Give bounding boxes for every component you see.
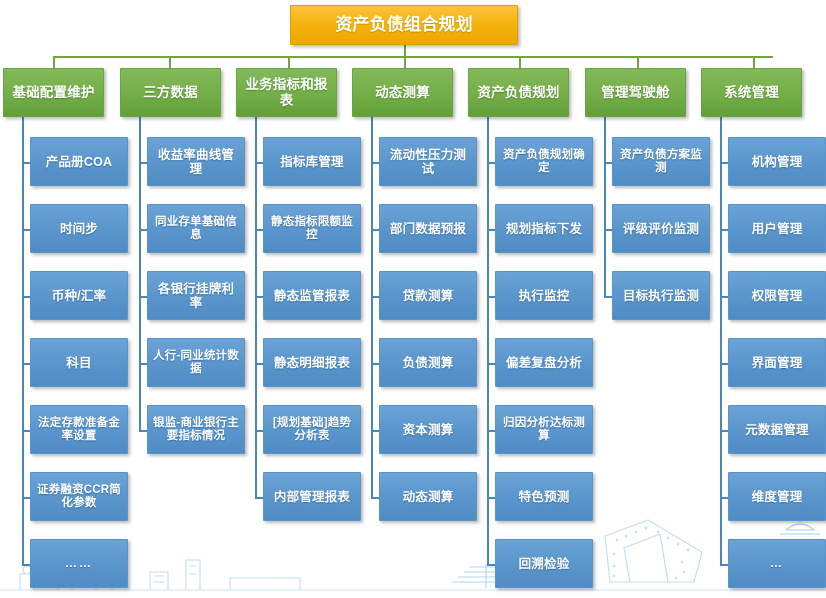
node-third-party-data-4[interactable]: 人行-同业统计数据 [147, 338, 245, 387]
connector-elbow-asset-liability-planning-1 [487, 162, 495, 164]
node-business-metrics-reports-4[interactable]: 静态明细报表 [263, 338, 361, 387]
connector-elbow-business-metrics-reports-1 [255, 162, 263, 164]
node-label: 静态指标限额监控 [268, 216, 356, 242]
connector-elbow-dynamic-measurement-2 [371, 229, 379, 231]
node-label: 回溯检验 [500, 557, 588, 571]
node-system-management-5[interactable]: 元数据管理 [728, 405, 826, 454]
node-label: 归因分析达标测算 [500, 417, 588, 443]
node-label: 动态测算 [384, 490, 472, 504]
node-business-metrics-reports-1[interactable]: 指标库管理 [263, 137, 361, 186]
node-system-management-7[interactable]: … [728, 539, 826, 588]
connector-elbow-basic-config-7 [22, 564, 30, 566]
connector-elbow-basic-config-1 [22, 162, 30, 164]
node-label: 维度管理 [733, 490, 821, 504]
connector-elbow-management-cockpit-2 [604, 229, 612, 231]
node-asset-liability-planning-3[interactable]: 执行监控 [495, 271, 593, 320]
node-label: [规划基础]趋势分析表 [268, 417, 356, 443]
node-third-party-data-5[interactable]: 银监-商业银行主要指标情况 [147, 405, 245, 454]
connector-elbow-dynamic-measurement-3 [371, 296, 379, 298]
node-dynamic-measurement-6[interactable]: 动态测算 [379, 472, 477, 521]
connector-elbow-basic-config-3 [22, 296, 30, 298]
column-header-label: 动态测算 [357, 85, 448, 100]
node-label: 负债测算 [384, 356, 472, 370]
node-asset-liability-planning-2[interactable]: 规划指标下发 [495, 204, 593, 253]
connector-elbow-system-management-1 [720, 162, 728, 164]
node-basic-config-6[interactable]: 证券融资CCR简化参数 [30, 472, 128, 521]
node-business-metrics-reports-6[interactable]: 内部管理报表 [263, 472, 361, 521]
node-system-management-3[interactable]: 权限管理 [728, 271, 826, 320]
node-label: 权限管理 [733, 289, 821, 303]
connector-elbow-dynamic-measurement-5 [371, 430, 379, 432]
node-label: 目标执行监测 [617, 289, 705, 303]
node-label: …… [35, 557, 123, 570]
connector-elbow-system-management-5 [720, 430, 728, 432]
connector-elbow-management-cockpit-3 [604, 296, 612, 298]
spine-col-6 [604, 117, 606, 296]
connector-elbow-system-management-7 [720, 564, 728, 566]
spine-col-2 [139, 117, 141, 430]
node-label: 同业存单基础信息 [152, 216, 240, 242]
node-label: 各银行挂牌利率 [152, 282, 240, 310]
column-header-label: 基础配置维护 [8, 85, 99, 100]
node-basic-config-1[interactable]: 产品册COA [30, 137, 128, 186]
column-header-basic-config[interactable]: 基础配置维护 [3, 68, 104, 117]
connector-elbow-system-management-2 [720, 229, 728, 231]
column-header-dynamic-measurement[interactable]: 动态测算 [352, 68, 453, 117]
connector-elbow-business-metrics-reports-4 [255, 363, 263, 365]
node-basic-config-3[interactable]: 币种/汇率 [30, 271, 128, 320]
spine-col-3 [255, 117, 257, 497]
node-business-metrics-reports-5[interactable]: [规划基础]趋势分析表 [263, 405, 361, 454]
node-asset-liability-planning-1[interactable]: 资产负债规划确定 [495, 137, 593, 186]
column-header-system-management[interactable]: 系统管理 [701, 68, 802, 117]
node-label: 偏差复盘分析 [500, 356, 588, 370]
root-node[interactable]: 资产负债组合规划 [290, 5, 518, 45]
diagram-canvas: 资产负债组合规划 基础配置维护产品册COA时间步币种/汇率科目法定存款准备金率设… [0, 0, 826, 598]
connector-elbow-third-party-data-5 [139, 430, 147, 432]
node-label: 资产负债规划确定 [500, 149, 588, 175]
node-label: 产品册COA [35, 155, 123, 169]
node-system-management-2[interactable]: 用户管理 [728, 204, 826, 253]
node-label: 元数据管理 [733, 423, 821, 437]
node-dynamic-measurement-5[interactable]: 资本测算 [379, 405, 477, 454]
connector-elbow-asset-liability-planning-6 [487, 497, 495, 499]
node-label: 指标库管理 [268, 155, 356, 169]
column-header-label: 系统管理 [706, 85, 797, 100]
node-label: 评级评价监测 [617, 222, 705, 236]
connector-elbow-dynamic-measurement-4 [371, 363, 379, 365]
node-label: 特色预测 [500, 490, 588, 504]
node-label: 部门数据预报 [384, 222, 472, 236]
column-header-label: 三方数据 [125, 85, 216, 100]
connector-elbow-third-party-data-3 [139, 296, 147, 298]
connector-elbow-asset-liability-planning-4 [487, 363, 495, 365]
node-basic-config-7[interactable]: …… [30, 539, 128, 588]
node-asset-liability-planning-5[interactable]: 归因分析达标测算 [495, 405, 593, 454]
column-header-third-party-data[interactable]: 三方数据 [120, 68, 221, 117]
node-label: 贷款测算 [384, 289, 472, 303]
node-label: 币种/汇率 [35, 289, 123, 303]
node-system-management-4[interactable]: 界面管理 [728, 338, 826, 387]
node-asset-liability-planning-6[interactable]: 特色预测 [495, 472, 593, 521]
node-label: 时间步 [35, 222, 123, 236]
node-business-metrics-reports-2[interactable]: 静态指标限额监控 [263, 204, 361, 253]
connector-elbow-basic-config-2 [22, 229, 30, 231]
connector-root-bus [53, 56, 773, 58]
node-label: 静态明细报表 [268, 356, 356, 370]
node-label: 用户管理 [733, 222, 821, 236]
column-header-label: 业务指标和报表 [241, 77, 332, 107]
node-system-management-6[interactable]: 维度管理 [728, 472, 826, 521]
column-header-label: 管理驾驶舱 [590, 85, 681, 100]
connector-elbow-dynamic-measurement-1 [371, 162, 379, 164]
node-basic-config-5[interactable]: 法定存款准备金率设置 [30, 405, 128, 454]
node-label: 界面管理 [733, 356, 821, 370]
node-third-party-data-1[interactable]: 收益率曲线管理 [147, 137, 245, 186]
root-node-label: 资产负债组合规划 [295, 15, 513, 34]
node-management-cockpit-2[interactable]: 评级评价监测 [612, 204, 710, 253]
connector-elbow-basic-config-5 [22, 430, 30, 432]
node-basic-config-2[interactable]: 时间步 [30, 204, 128, 253]
connector-elbow-business-metrics-reports-3 [255, 296, 263, 298]
connector-elbow-business-metrics-reports-5 [255, 430, 263, 432]
node-asset-liability-planning-7[interactable]: 回溯检验 [495, 539, 593, 588]
connector-elbow-basic-config-4 [22, 363, 30, 365]
connector-elbow-dynamic-measurement-6 [371, 497, 379, 499]
node-label: 执行监控 [500, 289, 588, 303]
column-header-management-cockpit[interactable]: 管理驾驶舱 [585, 68, 686, 117]
node-label: 资产负债方案监测 [617, 149, 705, 175]
node-label: 科目 [35, 356, 123, 370]
node-label: 静态监管报表 [268, 289, 356, 303]
node-third-party-data-2[interactable]: 同业存单基础信息 [147, 204, 245, 253]
node-dynamic-measurement-2[interactable]: 部门数据预报 [379, 204, 477, 253]
connector-elbow-third-party-data-1 [139, 162, 147, 164]
column-header-business-metrics-reports[interactable]: 业务指标和报表 [236, 68, 337, 117]
spine-col-4 [371, 117, 373, 497]
connector-elbow-management-cockpit-1 [604, 162, 612, 164]
connector-elbow-asset-liability-planning-5 [487, 430, 495, 432]
connector-elbow-basic-config-6 [22, 497, 30, 499]
node-dynamic-measurement-4[interactable]: 负债测算 [379, 338, 477, 387]
node-basic-config-4[interactable]: 科目 [30, 338, 128, 387]
column-header-label: 资产负债规划 [473, 85, 564, 100]
connector-elbow-business-metrics-reports-2 [255, 229, 263, 231]
column-header-asset-liability-planning[interactable]: 资产负债规划 [468, 68, 569, 117]
node-dynamic-measurement-3[interactable]: 贷款测算 [379, 271, 477, 320]
node-label: 收益率曲线管理 [152, 148, 240, 176]
node-third-party-data-3[interactable]: 各银行挂牌利率 [147, 271, 245, 320]
connector-elbow-third-party-data-2 [139, 229, 147, 231]
node-asset-liability-planning-4[interactable]: 偏差复盘分析 [495, 338, 593, 387]
node-label: 证券融资CCR简化参数 [35, 484, 123, 510]
node-management-cockpit-1[interactable]: 资产负债方案监测 [612, 137, 710, 186]
node-label: 规划指标下发 [500, 222, 588, 236]
node-dynamic-measurement-1[interactable]: 流动性压力测试 [379, 137, 477, 186]
connector-elbow-asset-liability-planning-7 [487, 564, 495, 566]
connector-elbow-asset-liability-planning-2 [487, 229, 495, 231]
node-label: 机构管理 [733, 155, 821, 169]
node-label: 人行-同业统计数据 [152, 350, 240, 376]
node-business-metrics-reports-3[interactable]: 静态监管报表 [263, 271, 361, 320]
node-label: 流动性压力测试 [384, 148, 472, 176]
node-label: 资本测算 [384, 423, 472, 437]
connector-elbow-third-party-data-4 [139, 363, 147, 365]
connector-elbow-system-management-3 [720, 296, 728, 298]
node-label: 内部管理报表 [268, 490, 356, 504]
node-label: 银监-商业银行主要指标情况 [152, 417, 240, 443]
connector-elbow-business-metrics-reports-6 [255, 497, 263, 499]
node-system-management-1[interactable]: 机构管理 [728, 137, 826, 186]
node-label: 法定存款准备金率设置 [35, 417, 123, 443]
connector-elbow-system-management-4 [720, 363, 728, 365]
node-management-cockpit-3[interactable]: 目标执行监测 [612, 271, 710, 320]
connector-elbow-system-management-6 [720, 497, 728, 499]
node-label: … [733, 557, 821, 570]
connector-elbow-asset-liability-planning-3 [487, 296, 495, 298]
